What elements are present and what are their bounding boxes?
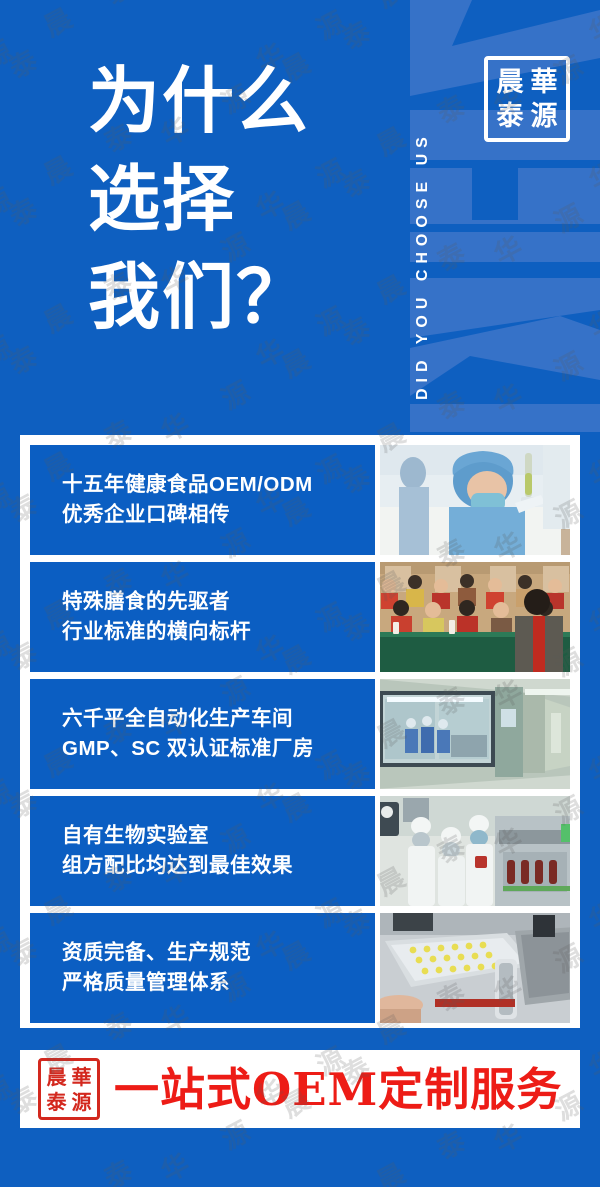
feature-text-panel: 特殊膳食的先驱者 行业标准的横向标杆: [30, 562, 375, 672]
feature-line: 十五年健康食品OEM/ODM: [62, 474, 375, 497]
footer-banner: 華 源 晨 泰 一站式OEM定制服务: [20, 1050, 580, 1128]
seal-char-2: 源: [527, 99, 561, 133]
list-item[interactable]: 自有生物实验室 组方配比均达到最佳效果: [30, 796, 570, 906]
vertical-tagline: DID YOU CHOOSE US: [414, 16, 442, 400]
footer-slogan: 一站式OEM定制服务: [114, 1067, 562, 1112]
feature-line: 行业标准的横向标杆: [62, 621, 375, 644]
features-frame: 十五年健康食品OEM/ODM 优秀企业口碑相传: [20, 435, 580, 1028]
title-line-3: 我们？: [88, 248, 388, 346]
feature-list: 十五年健康食品OEM/ODM 优秀企业口碑相传: [30, 445, 570, 1023]
feature-text-panel: 六千平全自动化生产车间 GMP、SC 双认证标准厂房: [30, 679, 375, 789]
page-title: 为什么 选择 我们？: [88, 52, 388, 346]
brand-seal-red: 華 源 晨 泰: [38, 1058, 100, 1120]
feature-line: 六千平全自动化生产车间: [62, 708, 375, 731]
feature-line: 特殊膳食的先驱者: [62, 591, 375, 614]
poster-root: 为什么 选择 我们？ DID YOU CHOOSE US 華 源 晨 泰 十五年…: [0, 0, 600, 1187]
feature-line: GMP、SC 双认证标准厂房: [62, 738, 375, 761]
feature-line: 严格质量管理体系: [62, 972, 375, 995]
title-line-1: 为什么: [88, 52, 388, 150]
list-item[interactable]: 六千平全自动化生产车间 GMP、SC 双认证标准厂房: [30, 679, 570, 789]
feature-photo-tablet-packaging: [380, 913, 570, 1023]
feature-text-panel: 资质完备、生产规范 严格质量管理体系: [30, 913, 375, 1023]
footer-seal-char-2: 源: [69, 1089, 94, 1114]
seal-char-3: 晨: [493, 65, 527, 99]
brand-seal-white: 華 源 晨 泰: [484, 56, 570, 142]
list-item[interactable]: 特殊膳食的先驱者 行业标准的横向标杆: [30, 562, 570, 672]
feature-line: 组方配比均达到最佳效果: [62, 855, 375, 878]
poster-header: 为什么 选择 我们？ DID YOU CHOOSE US 華 源 晨 泰: [0, 0, 600, 432]
feature-text-panel: 十五年健康食品OEM/ODM 优秀企业口碑相传: [30, 445, 375, 555]
list-item[interactable]: 资质完备、生产规范 严格质量管理体系: [30, 913, 570, 1023]
feature-photo-filling-line: [380, 796, 570, 906]
feature-text-panel: 自有生物实验室 组方配比均达到最佳效果: [30, 796, 375, 906]
title-line-2: 选择: [88, 150, 388, 248]
feature-photo-lab-technician: [380, 445, 570, 555]
footer-seal-char-3: 晨: [44, 1064, 69, 1089]
footer-seal-char-1: 華: [69, 1064, 94, 1089]
feature-line: 资质完备、生产规范: [62, 942, 375, 965]
feature-photo-cleanroom-corridor: [380, 679, 570, 789]
list-item[interactable]: 十五年健康食品OEM/ODM 优秀企业口碑相传: [30, 445, 570, 555]
seal-char-4: 泰: [493, 99, 527, 133]
feature-line: 自有生物实验室: [62, 825, 375, 848]
feature-line: 优秀企业口碑相传: [62, 504, 375, 527]
feature-photo-conference-audience: [380, 562, 570, 672]
footer-seal-char-4: 泰: [44, 1089, 69, 1114]
seal-char-1: 華: [527, 65, 561, 99]
